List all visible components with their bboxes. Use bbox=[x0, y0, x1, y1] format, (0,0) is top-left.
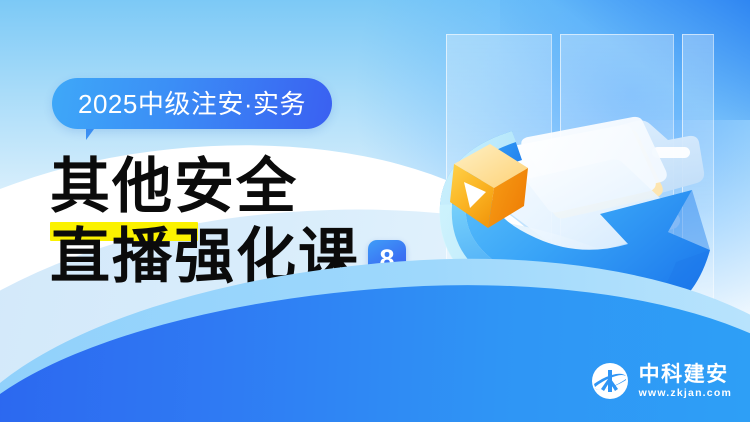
logo-text-block: 中科建安 www.zkjan.com bbox=[639, 364, 732, 399]
logo-website-url: www.zkjan.com bbox=[639, 388, 732, 399]
logo-brand-name: 中科建安 bbox=[639, 364, 732, 385]
title-line-1: 其他安全 bbox=[50, 152, 406, 222]
zkjan-logo-icon bbox=[591, 362, 629, 400]
play-cube-icon bbox=[442, 130, 552, 240]
course-category-label: 2025中级注安·实务 bbox=[78, 91, 306, 117]
course-poster: 2025中级注安·实务 其他安全 直播强化课 8 中科建安 bbox=[0, 0, 750, 422]
brand-logo: 中科建安 www.zkjan.com bbox=[591, 362, 732, 400]
course-category-badge: 2025中级注安·实务 bbox=[52, 78, 332, 129]
